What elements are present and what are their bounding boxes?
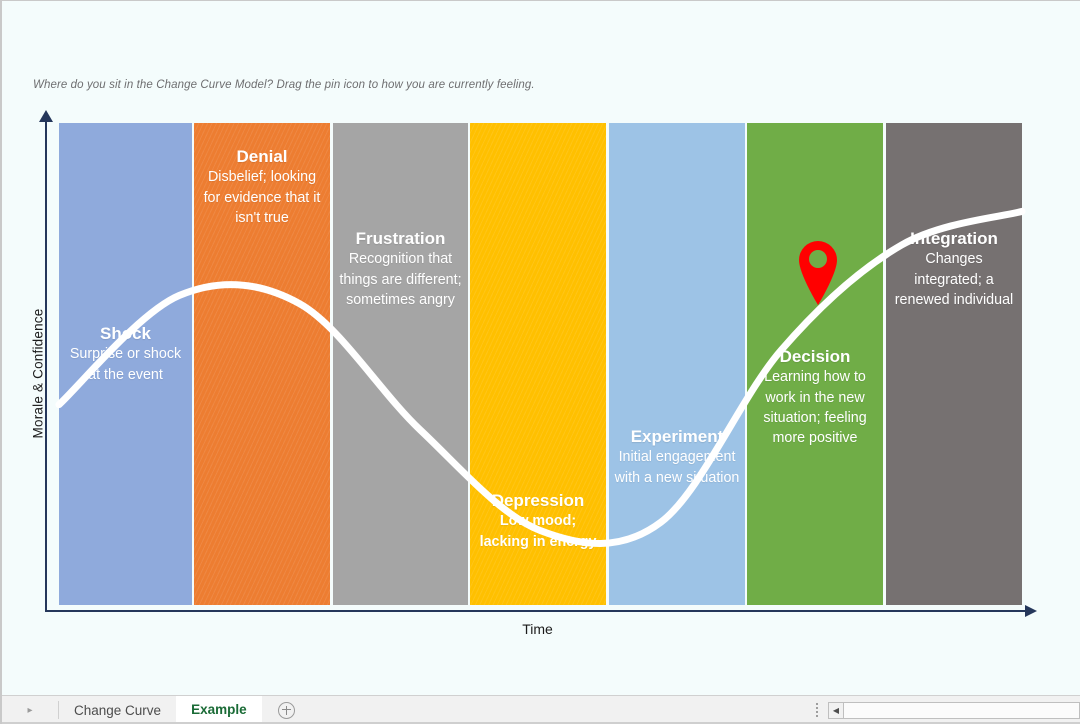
- y-axis-arrow-icon: [39, 110, 53, 122]
- x-axis-line: [45, 610, 1030, 612]
- sheet-tab-change-curve[interactable]: Change Curve: [59, 696, 176, 724]
- phase-band-denial: DenialDisbelief; looking for evidence th…: [194, 123, 330, 605]
- plus-icon: [278, 702, 295, 719]
- sheet-tabs: Change CurveExample: [59, 696, 262, 724]
- phase-bands: ShockSurprise or shock at the eventDenia…: [2, 101, 1062, 609]
- x-axis-arrow-icon: [1025, 605, 1037, 617]
- band-description: Disbelief; looking for evidence that it …: [194, 167, 330, 228]
- phase-band-experiment: ExperimentInitial engagement with a new …: [609, 123, 745, 605]
- band-description: Initial engagement with a new situation: [609, 447, 745, 488]
- band-spacer: [333, 123, 468, 228]
- instruction-text: Where do you sit in the Change Curve Mod…: [33, 79, 535, 91]
- band-description: Recognition that things are different; s…: [333, 249, 468, 310]
- band-title: Shock: [96, 323, 155, 344]
- phase-band-decision: DecisionLearning how to work in the new …: [747, 123, 883, 605]
- band-spacer: [59, 123, 192, 323]
- phase-band-depression: DepressionLow mood; lacking in energy: [470, 123, 606, 605]
- band-spacer: [194, 123, 330, 146]
- split-handle[interactable]: [806, 696, 828, 724]
- pin-glyph: [796, 238, 840, 306]
- sheet-tab-example[interactable]: Example: [176, 696, 262, 724]
- band-title: Depression: [488, 490, 589, 511]
- band-description: Surprise or shock at the event: [59, 344, 192, 385]
- x-axis-label: Time: [45, 621, 1030, 637]
- band-title: Frustration: [352, 228, 450, 249]
- band-spacer: [609, 123, 745, 426]
- band-spacer: [470, 123, 606, 490]
- band-spacer: [886, 123, 1022, 228]
- y-axis-label: Morale & Confidence: [31, 294, 46, 454]
- phase-band-frustration: FrustrationRecognition that things are d…: [333, 123, 468, 605]
- band-description: Changes integrated; a renewed individual: [886, 249, 1022, 310]
- scroll-left-button[interactable]: ◀: [828, 702, 844, 719]
- band-title: Denial: [232, 146, 291, 167]
- band-title: Integration: [906, 228, 1002, 249]
- location-pin-icon[interactable]: [796, 238, 840, 306]
- add-sheet-button[interactable]: [262, 696, 312, 724]
- change-curve-chart: ShockSurprise or shock at the eventDenia…: [2, 101, 1062, 661]
- band-description: Low mood; lacking in energy: [470, 511, 606, 552]
- band-spacer: [747, 123, 883, 346]
- horizontal-scrollbar[interactable]: ◀: [828, 696, 1080, 724]
- spreadsheet-window: Where do you sit in the Change Curve Mod…: [0, 0, 1080, 724]
- sheetbar-spacer: [312, 696, 806, 724]
- sheet-tab-bar: ▸ Change CurveExample ◀: [2, 695, 1080, 724]
- scroll-track[interactable]: [844, 702, 1080, 719]
- sheet-nav-arrow-icon[interactable]: ▸: [2, 696, 58, 724]
- phase-band-integration: IntegrationChanges integrated; a renewed…: [886, 123, 1022, 605]
- band-title: Experiment: [627, 426, 728, 447]
- phase-band-shock: ShockSurprise or shock at the event: [59, 123, 192, 605]
- band-description: Learning how to work in the new situatio…: [747, 367, 883, 448]
- band-title: Decision: [776, 346, 855, 367]
